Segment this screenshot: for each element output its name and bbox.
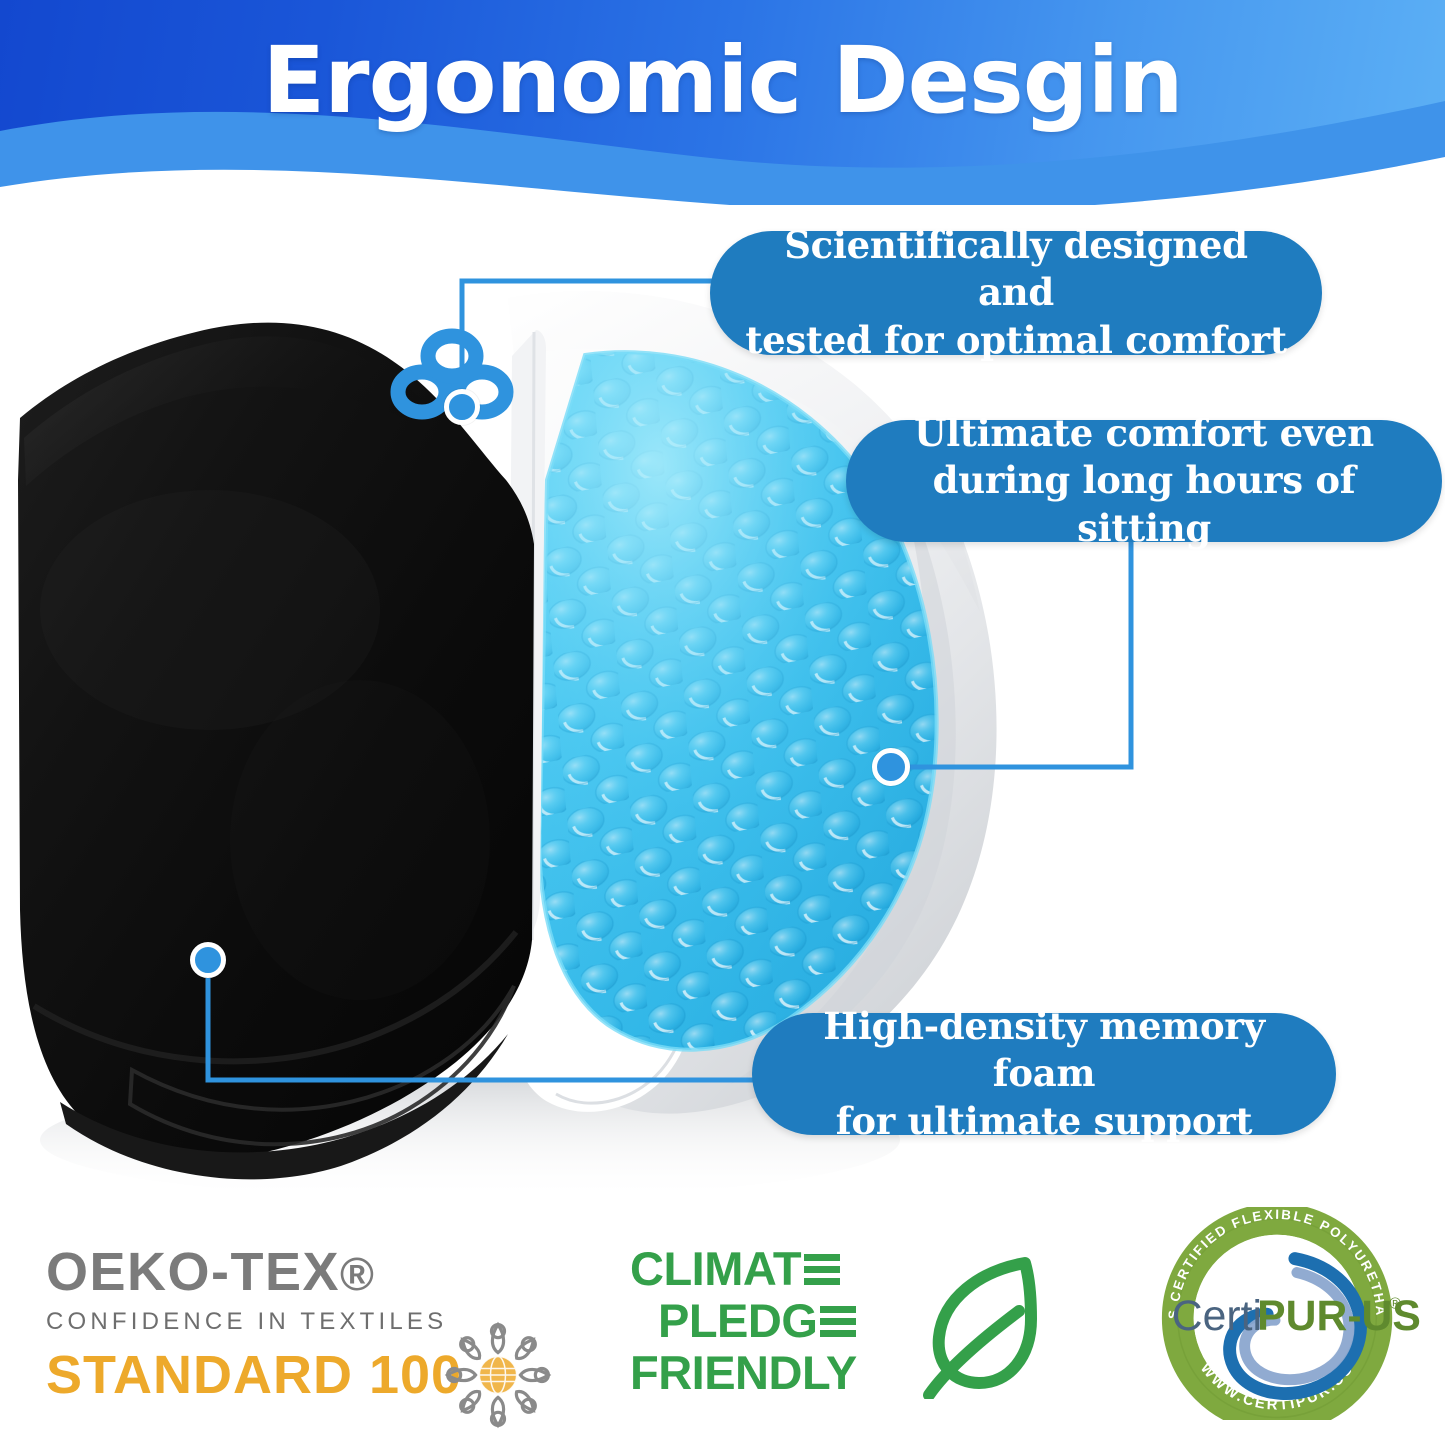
callout-marker-gel[interactable] (872, 748, 910, 786)
cpf-bar-e-icon-2 (820, 1306, 856, 1337)
callout-bubble-2[interactable]: Ultimate comfort even during long hours … (846, 420, 1442, 542)
badge-certipur-us: CONTAINS CERTIFIED FLEXIBLE POLYURETHANE… (1146, 1207, 1424, 1419)
oeko-tex-name: OEKO-TEX (46, 1242, 340, 1302)
header-banner: Ergonomic Desgin (0, 0, 1445, 205)
callout-marker-top[interactable] (444, 389, 480, 425)
callout-marker-bottom[interactable] (190, 942, 226, 978)
infographic-canvas: Ergonomic Desgin (0, 0, 1445, 1418)
callout-2-line-1: Ultimate comfort even (914, 411, 1374, 455)
certipur-wordmark: Certi PUR-US ® (1172, 1292, 1421, 1340)
oeko-tex-wordmark: OEKO-TEX® (46, 1245, 526, 1299)
callout-3-line-2: for ultimate support (836, 1099, 1252, 1143)
cpf-line-1: CLIMAT (630, 1245, 801, 1293)
callout-1-line-2: tested for optimal comfort (745, 318, 1286, 362)
callout-1-line-1: Scientifically designed and (784, 223, 1247, 314)
cpf-line-3: FRIENDLY (630, 1349, 857, 1397)
climate-pledge-wordmark: CLIMAT PLEDG FRIENDLY (630, 1243, 857, 1399)
memory-foam-black (18, 323, 534, 1180)
callout-bubble-3[interactable]: High-density memory foam for ultimate su… (752, 1013, 1336, 1135)
badge-climate-pledge-friendly: CLIMAT PLEDG FRIENDLY (630, 1243, 1020, 1408)
cpf-bar-e-icon-1 (804, 1254, 840, 1285)
oeko-tex-registered: ® (340, 1248, 375, 1300)
badge-oeko-tex: OEKO-TEX® CONFIDENCE IN TEXTILES STANDAR… (46, 1245, 526, 1405)
oeko-tex-flower-icon (442, 1319, 554, 1431)
certipur-registered: ® (1389, 1295, 1401, 1312)
callout-bubble-1[interactable]: Scientifically designed and tested for o… (710, 231, 1322, 355)
cpf-line-2: PLEDG (658, 1297, 817, 1345)
leaf-icon (920, 1249, 1042, 1399)
certipur-word-certi: Certi (1172, 1292, 1262, 1340)
certification-badge-row: OEKO-TEX® CONFIDENCE IN TEXTILES STANDAR… (0, 1215, 1445, 1418)
callout-2-line-2: during long hours of sitting (933, 458, 1356, 549)
page-title: Ergonomic Desgin (0, 30, 1445, 131)
callout-3-line-1: High-density memory foam (823, 1004, 1265, 1095)
